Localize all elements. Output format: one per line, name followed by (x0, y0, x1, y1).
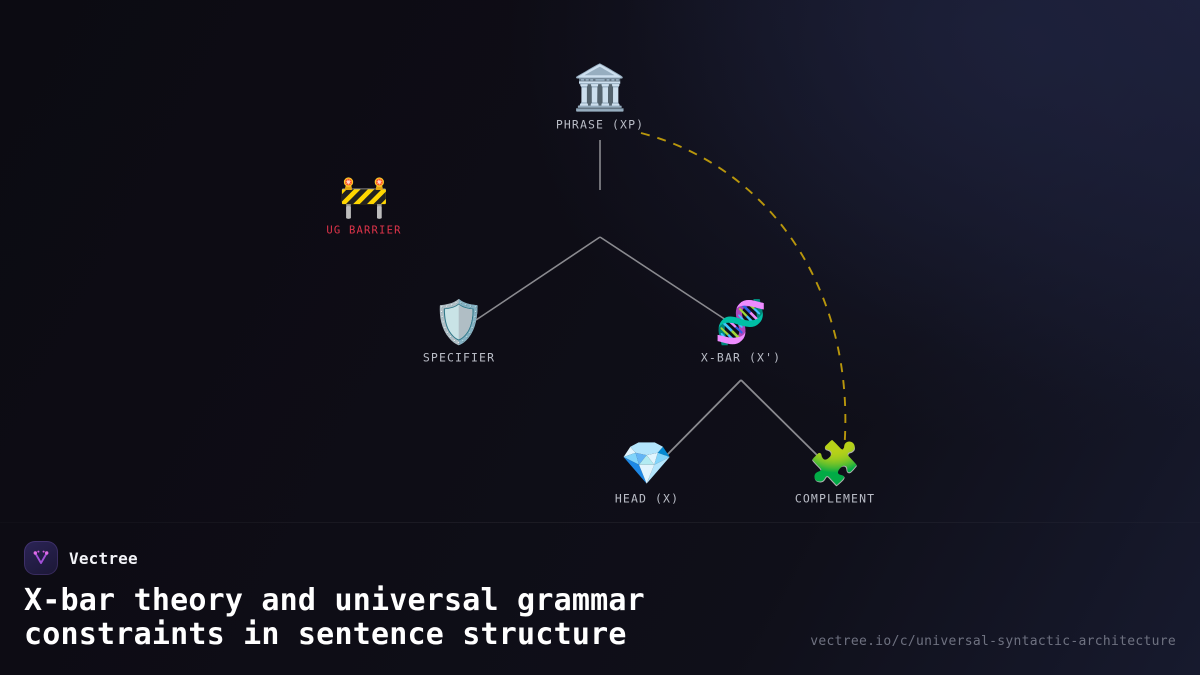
tree-node-ug-barrier[interactable]: 🚧 UG BARRIER (326, 178, 401, 237)
tree-node-label: UG BARRIER (326, 225, 401, 237)
headline-line-1: X-bar theory and universal grammar (24, 584, 784, 618)
gem-stone-icon: 💎 (621, 443, 673, 485)
tree-node-label: HEAD (X) (615, 492, 679, 506)
classical-building-icon: 🏛️ (573, 67, 628, 111)
page-title: X-bar theory and universal grammar const… (24, 584, 784, 652)
headline-line-2: constraints in sentence structure (24, 618, 784, 652)
tree-node-label: SPECIFIER (423, 351, 495, 365)
brand-row: Vectree (24, 541, 138, 575)
dna-helix-icon: 🧬 (715, 302, 767, 344)
screenshot-root: 🏛️ PHRASE (XP) 🚧 UG BARRIER 🛡️ SPECIFIER… (0, 0, 1200, 675)
shield-icon: 🛡️ (433, 302, 485, 344)
tree-node-label: COMPLEMENT (795, 492, 875, 506)
tree-node-complement[interactable]: 🧩 COMPLEMENT (795, 443, 875, 506)
footer: Vectree X-bar theory and universal gramm… (0, 522, 1200, 675)
tree-node-head[interactable]: 💎 HEAD (X) (615, 443, 679, 506)
source-url[interactable]: vectree.io/c/universal-syntactic-archite… (810, 634, 1176, 649)
tree-node-label: X-BAR (X') (701, 351, 781, 365)
vectree-logo-icon (24, 541, 58, 575)
tree-node-phrase[interactable]: 🏛️ PHRASE (XP) (556, 67, 644, 132)
tree-node-specifier[interactable]: 🛡️ SPECIFIER (423, 302, 495, 365)
tree-node-x-bar[interactable]: 🧬 X-BAR (X') (701, 302, 781, 365)
construction-barrier-icon: 🚧 (339, 178, 389, 218)
puzzle-piece-icon: 🧩 (809, 443, 861, 485)
tree-node-label: PHRASE (XP) (556, 118, 644, 132)
brand-name: Vectree (69, 549, 138, 568)
